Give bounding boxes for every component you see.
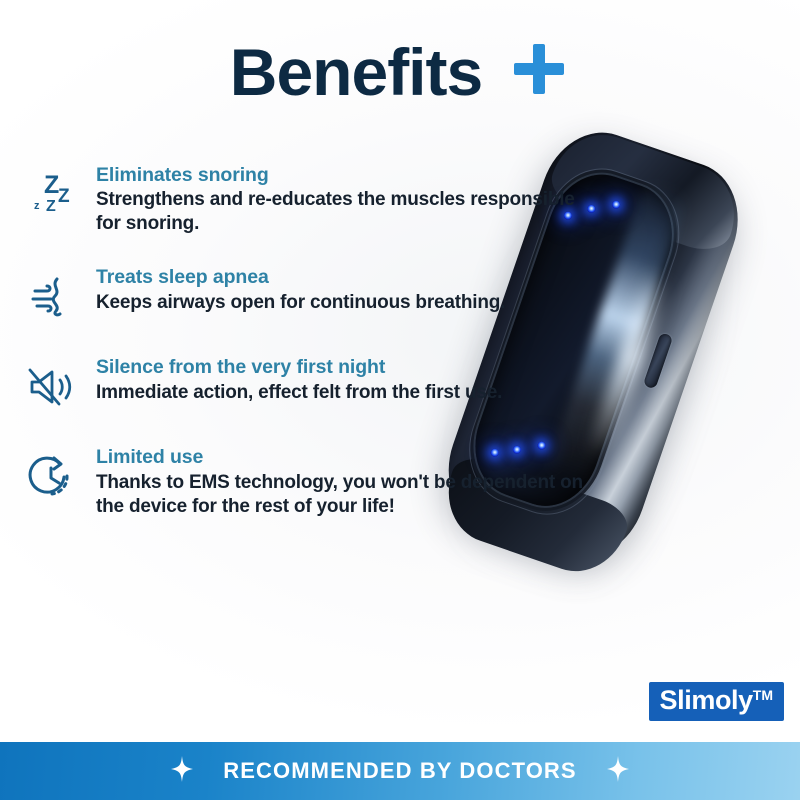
sparkle-icon [171,756,193,787]
speaker-mute-icon [24,354,82,416]
benefit-item-eliminates-snoring: Z Z Z z Eliminates snoring Strengthens a… [24,162,584,236]
benefit-heading: Silence from the very first night [96,356,584,378]
trademark-symbol: TM [753,688,773,702]
benefit-text-block: Eliminates snoring Strengthens and re-ed… [96,162,584,236]
benefit-body: Keeps airways open for continuous breath… [96,291,584,315]
benefit-body: Immediate action, effect felt from the f… [96,381,584,405]
svg-text:Z: Z [58,186,70,207]
benefit-body: Strengthens and re-educates the muscles … [96,188,584,236]
recommended-by-doctors-banner: RECOMMENDED BY DOCTORS [0,742,800,800]
benefit-heading: Treats sleep apnea [96,266,584,288]
svg-text:z: z [34,200,40,212]
benefit-heading: Limited use [96,446,584,468]
sparkle-icon [607,756,629,787]
airflow-breathing-icon [24,264,82,326]
benefit-text-block: Treats sleep apnea Keeps airways open fo… [96,264,584,314]
benefit-text-block: Silence from the very first night Immedi… [96,354,584,404]
benefits-list: Z Z Z z Eliminates snoring Strengthens a… [24,162,584,547]
benefit-item-silence-first-night: Silence from the very first night Immedi… [24,354,584,416]
snoring-zzz-icon: Z Z Z z [24,162,82,224]
benefits-infographic: Benefits [0,0,800,800]
led-indicator [611,200,621,210]
power-button [643,332,674,389]
svg-text:Z: Z [46,198,56,215]
svg-text:Z: Z [44,171,59,199]
led-indicator [586,204,596,214]
benefit-body: Thanks to EMS technology, you won't be d… [96,471,584,519]
brand-name: Slimoly [660,687,753,714]
banner-text: RECOMMENDED BY DOCTORS [223,758,576,784]
page-header: Benefits [0,38,800,105]
benefit-text-block: Limited use Thanks to EMS technology, yo… [96,444,584,518]
benefit-item-treats-sleep-apnea: Treats sleep apnea Keeps airways open fo… [24,264,584,326]
benefit-heading: Eliminates snoring [96,164,584,186]
page-title: Benefits [230,39,482,105]
device-edge-glow [586,273,672,461]
benefit-item-limited-use: Limited use Thanks to EMS technology, yo… [24,444,584,518]
clock-arrow-icon [24,444,82,506]
plus-icon [508,38,570,105]
brand-logo: Slimoly TM [649,682,784,721]
